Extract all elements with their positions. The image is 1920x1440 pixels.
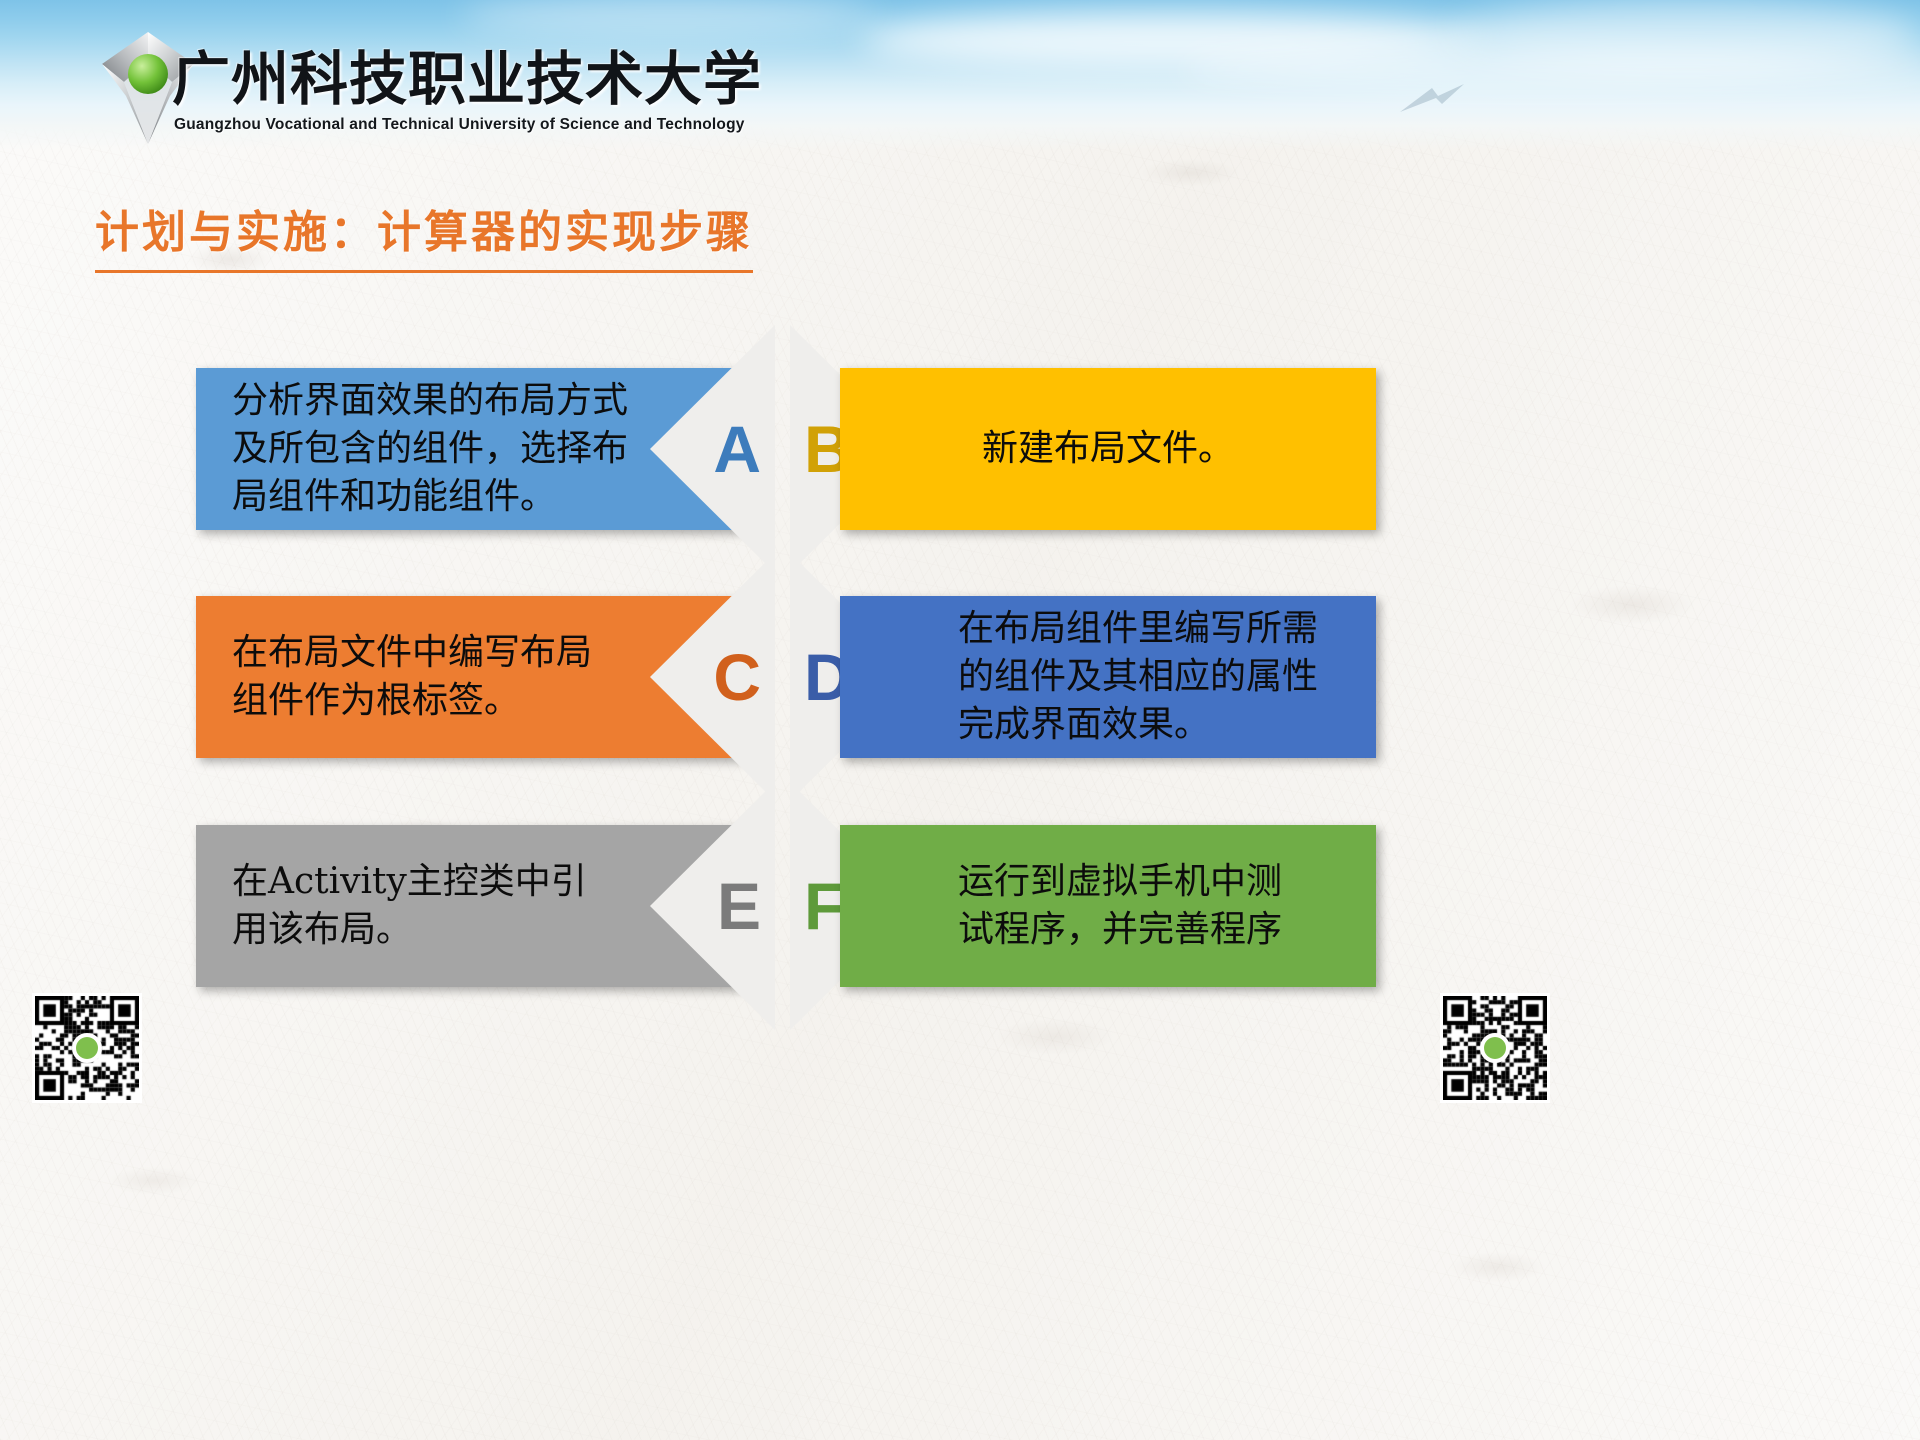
wechat-green-dot-icon	[1484, 1037, 1506, 1059]
step-arrow-a[interactable]: A	[650, 325, 775, 573]
step-letter-c: C	[713, 644, 761, 710]
step-row: 在Activity主控类中引 用该布局。 E F 运行到虚拟手机中测 试程序，并…	[0, 825, 1920, 987]
brand-title-chinese: 广州科技职业技术大学	[172, 32, 762, 116]
step-text-b: 新建布局文件。	[840, 425, 1376, 473]
step-bar-f[interactable]: 运行到虚拟手机中测 试程序，并完善程序	[840, 825, 1376, 987]
qr-code-right[interactable]	[1440, 993, 1550, 1103]
step-letter-e: E	[717, 873, 761, 939]
step-text-d: 在布局组件里编写所需 的组件及其相应的属性 完成界面效果。	[958, 605, 1378, 749]
step-arrow-e[interactable]: E	[650, 782, 775, 1030]
step-row: 在布局文件中编写布局 组件作为根标签。 C D 在布局组件里编写所需 的组件及其…	[0, 596, 1920, 758]
step-letter-a: A	[713, 416, 761, 482]
step-arrow-c[interactable]: C	[650, 553, 775, 801]
step-text-a: 分析界面效果的布局方式 及所包含的组件，选择布 局组件和功能组件。	[232, 377, 702, 521]
qr-code-left[interactable]	[32, 993, 142, 1103]
step-bar-d[interactable]: 在布局组件里编写所需 的组件及其相应的属性 完成界面效果。	[840, 596, 1376, 758]
step-row: 分析界面效果的布局方式 及所包含的组件，选择布 局组件和功能组件。 A B 新建…	[0, 368, 1920, 530]
step-text-c: 在布局文件中编写布局 组件作为根标签。	[232, 629, 702, 725]
step-letter-f: F	[804, 873, 844, 939]
steps-chevron-chart: 分析界面效果的布局方式 及所包含的组件，选择布 局组件和功能组件。 A B 新建…	[0, 0, 1920, 1440]
step-text-f: 运行到虚拟手机中测 试程序，并完善程序	[958, 858, 1378, 954]
brand-title-english: Guangzhou Vocational and Technical Unive…	[174, 116, 745, 134]
step-text-e: 在Activity主控类中引 用该布局。	[232, 858, 702, 954]
step-bar-b[interactable]: 新建布局文件。	[840, 368, 1376, 530]
wechat-green-dot-icon	[76, 1037, 98, 1059]
